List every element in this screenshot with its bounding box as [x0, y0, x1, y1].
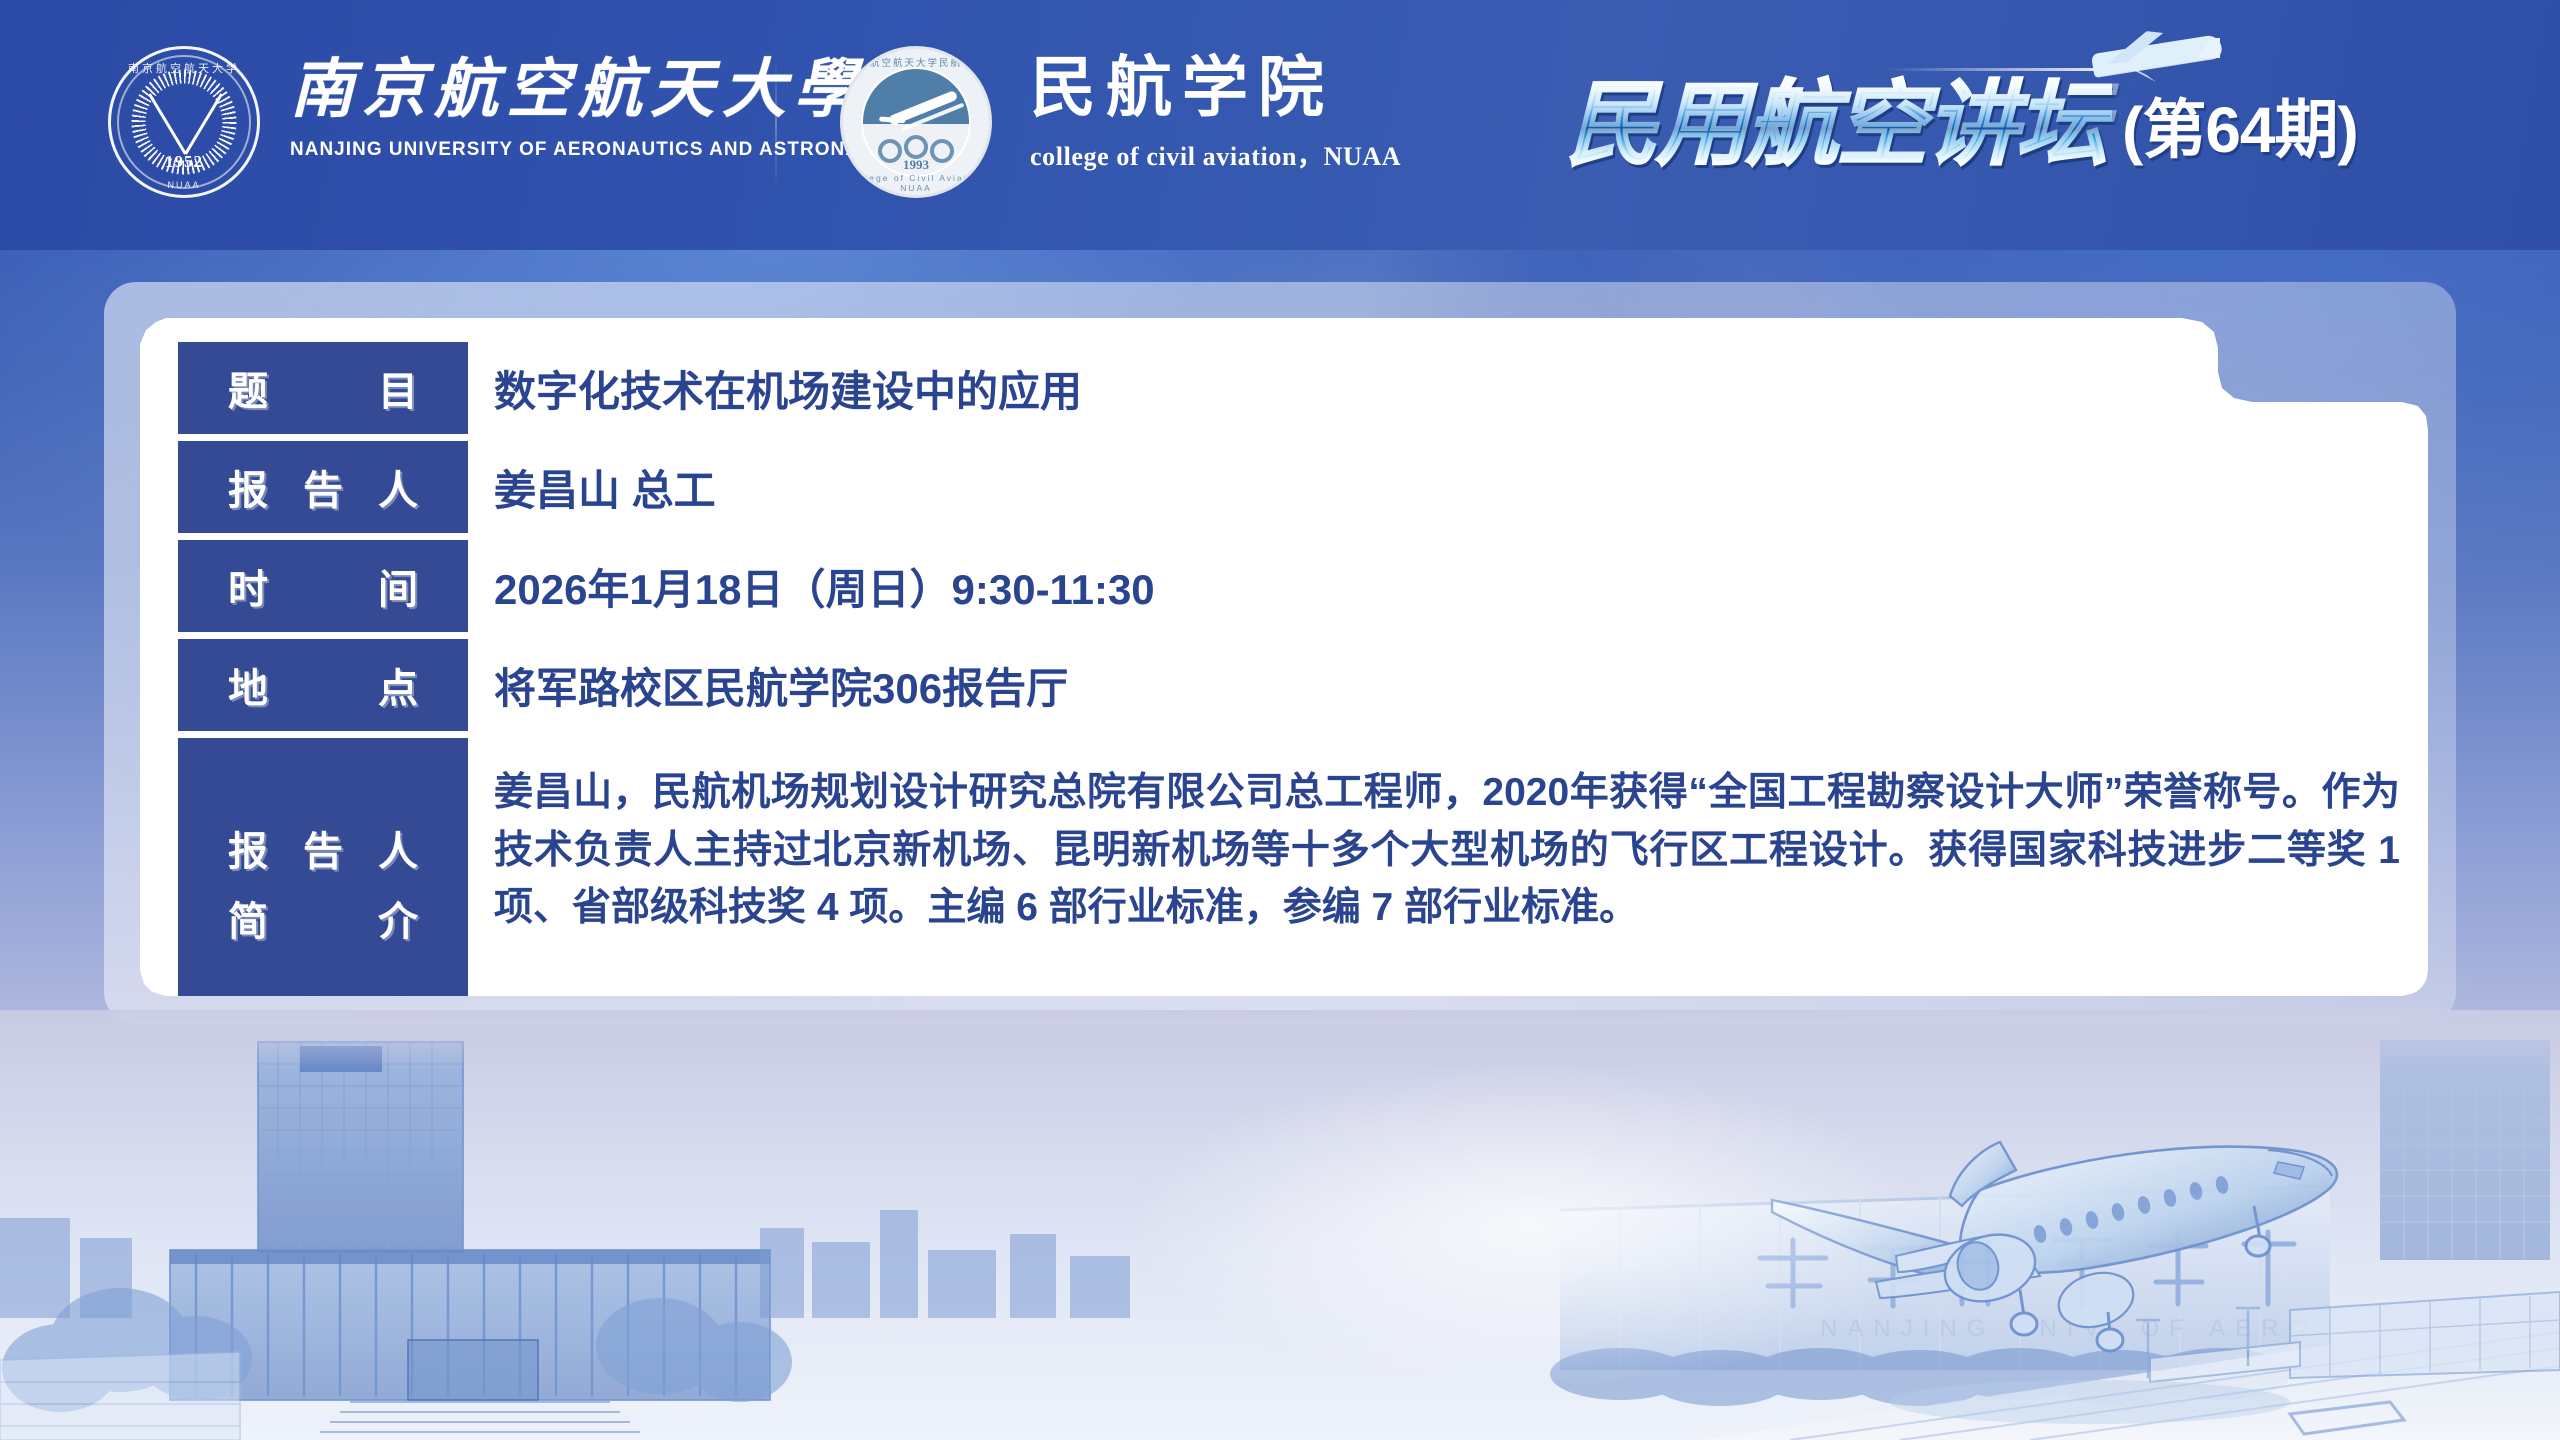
row-label-place: 地 点: [178, 639, 468, 731]
info-table: 题 目 数字化技术在机场建设中的应用 报 告 人 姜昌山 总工: [178, 342, 2428, 996]
label-char: 告: [303, 458, 343, 516]
label-char: 题: [228, 359, 268, 417]
nuaa-seal-icon: 南京航空航天大学 1952 NUAA: [108, 46, 260, 198]
label-char: 报: [228, 819, 268, 877]
header-divider: [775, 58, 777, 188]
poster-root: NANJING UNIV. OF AERO.: [0, 0, 2560, 1440]
label-char: 间: [378, 557, 418, 615]
forum-title-text: 民用航空讲坛: [1560, 74, 2112, 177]
table-row-title: 题 目 数字化技术在机场建设中的应用: [178, 342, 2428, 434]
cca-seal-arc-top: 南京航空航天大学民航学院: [843, 55, 989, 69]
row-label-title: 题 目: [178, 342, 468, 434]
cca-wordmark: 民航学院 college of civil aviation，NUAA: [1030, 56, 1401, 173]
cca-name-en: college of civil aviation，NUAA: [1030, 136, 1401, 173]
row-value-time: 2026年1月18日（周日）9:30-11:30: [468, 540, 2428, 632]
poster-header: 南京航空航天大学 1952 NUAA 南京航空航天大學 NANJING UNIV…: [0, 0, 2560, 250]
illustration-top-fade: [0, 1010, 2560, 1440]
table-row-bio: 报 告 人 简 介 姜昌山，民航机场规划设计研究总院有限公司总工程师，2020年…: [178, 738, 2428, 996]
label-char: 地: [228, 656, 268, 714]
row-label-time: 时 间: [178, 540, 468, 632]
info-card: 题 目 数字化技术在机场建设中的应用 报 告 人 姜昌山 总工: [140, 318, 2428, 996]
row-label-bio: 报 告 人 简 介: [178, 738, 468, 996]
cca-seal-year: 1993: [843, 157, 989, 173]
nuaa-seal-year: 1952: [108, 152, 260, 172]
row-value-place: 将军路校区民航学院306报告厅: [468, 639, 2428, 731]
table-row-speaker: 报 告 人 姜昌山 总工: [178, 441, 2428, 533]
label-char: 时: [228, 557, 268, 615]
label-char: 目: [378, 359, 418, 417]
label-char: 简: [228, 889, 268, 947]
nuaa-seal-arc-bottom: NUAA: [108, 180, 260, 190]
row-value-bio: 姜昌山，民航机场规划设计研究总院有限公司总工程师，2020年获得“全国工程勘察设…: [468, 738, 2428, 996]
row-value-title: 数字化技术在机场建设中的应用: [468, 342, 2428, 434]
cca-seal-arc-bottom: College of Civil Aviation NUAA: [843, 173, 989, 193]
label-char: 人: [378, 458, 418, 516]
forum-issue-number: (第64期): [2122, 79, 2358, 171]
label-char: 点: [378, 656, 418, 714]
label-char: 人: [378, 819, 418, 877]
nuaa-name-en: NANJING UNIVERSITY OF AERONAUTICS AND AS…: [290, 138, 922, 161]
label-char: 报: [228, 458, 268, 516]
row-label-speaker: 报 告 人: [178, 441, 468, 533]
label-char: 介: [378, 889, 418, 947]
cca-name-cn: 民航学院: [1030, 56, 1401, 122]
bottom-illustration: NANJING UNIV. OF AERO.: [0, 1010, 2560, 1440]
bio-paragraph: 姜昌山，民航机场规划设计研究总院有限公司总工程师，2020年获得“全国工程勘察设…: [494, 764, 2400, 937]
cca-seal-icon: 南京航空航天大学民航学院 1993 College of Civil Aviat…: [840, 46, 992, 198]
nuaa-seal-arc-top: 南京航空航天大学: [108, 60, 260, 76]
table-row-time: 时 间 2026年1月18日（周日）9:30-11:30: [178, 540, 2428, 632]
row-value-speaker: 姜昌山 总工: [468, 441, 2428, 533]
label-char: 告: [303, 819, 343, 877]
forum-title-block: 民用航空讲坛 (第64期): [1560, 26, 2540, 226]
table-row-place: 地 点 将军路校区民航学院306报告厅: [178, 639, 2428, 731]
